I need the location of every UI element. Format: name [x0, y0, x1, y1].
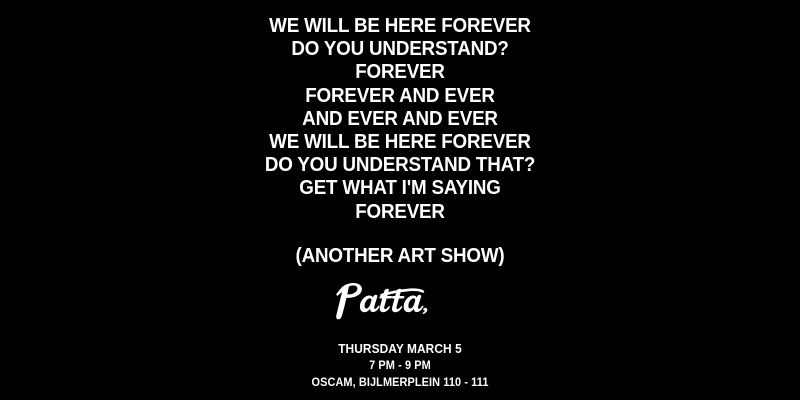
event-venue: OSCAM, BIJLMERPLEIN 110 - 111	[20, 375, 780, 392]
event-time: 7 PM - 9 PM	[20, 358, 780, 375]
subtitle-text: (ANOTHER ART SHOW)	[24, 245, 776, 268]
message-line: DO YOU UNDERSTAND THAT?	[24, 154, 776, 177]
message-block: WE WILL BE HERE FOREVER DO YOU UNDERSTAN…	[0, 15, 800, 224]
event-details-block: THURSDAY MARCH 5 7 PM - 9 PM OSCAM, BIJL…	[0, 341, 800, 392]
message-line: WE WILL BE HERE FOREVER	[24, 131, 776, 154]
message-line: FOREVER AND EVER	[24, 85, 776, 108]
event-date: THURSDAY MARCH 5	[20, 341, 780, 358]
message-line: GET WHAT I'M SAYING	[24, 177, 776, 200]
message-line: FOREVER	[24, 61, 776, 84]
poster-canvas: WE WILL BE HERE FOREVER DO YOU UNDERSTAN…	[0, 0, 800, 400]
message-line: FOREVER	[24, 201, 776, 224]
patta-script-wordmark-logo	[327, 281, 447, 321]
brand-logo	[0, 281, 800, 321]
subtitle-block: (ANOTHER ART SHOW)	[0, 245, 800, 268]
message-line: WE WILL BE HERE FOREVER	[24, 15, 776, 38]
message-line: AND EVER AND EVER	[24, 108, 776, 131]
message-line: DO YOU UNDERSTAND?	[24, 38, 776, 61]
